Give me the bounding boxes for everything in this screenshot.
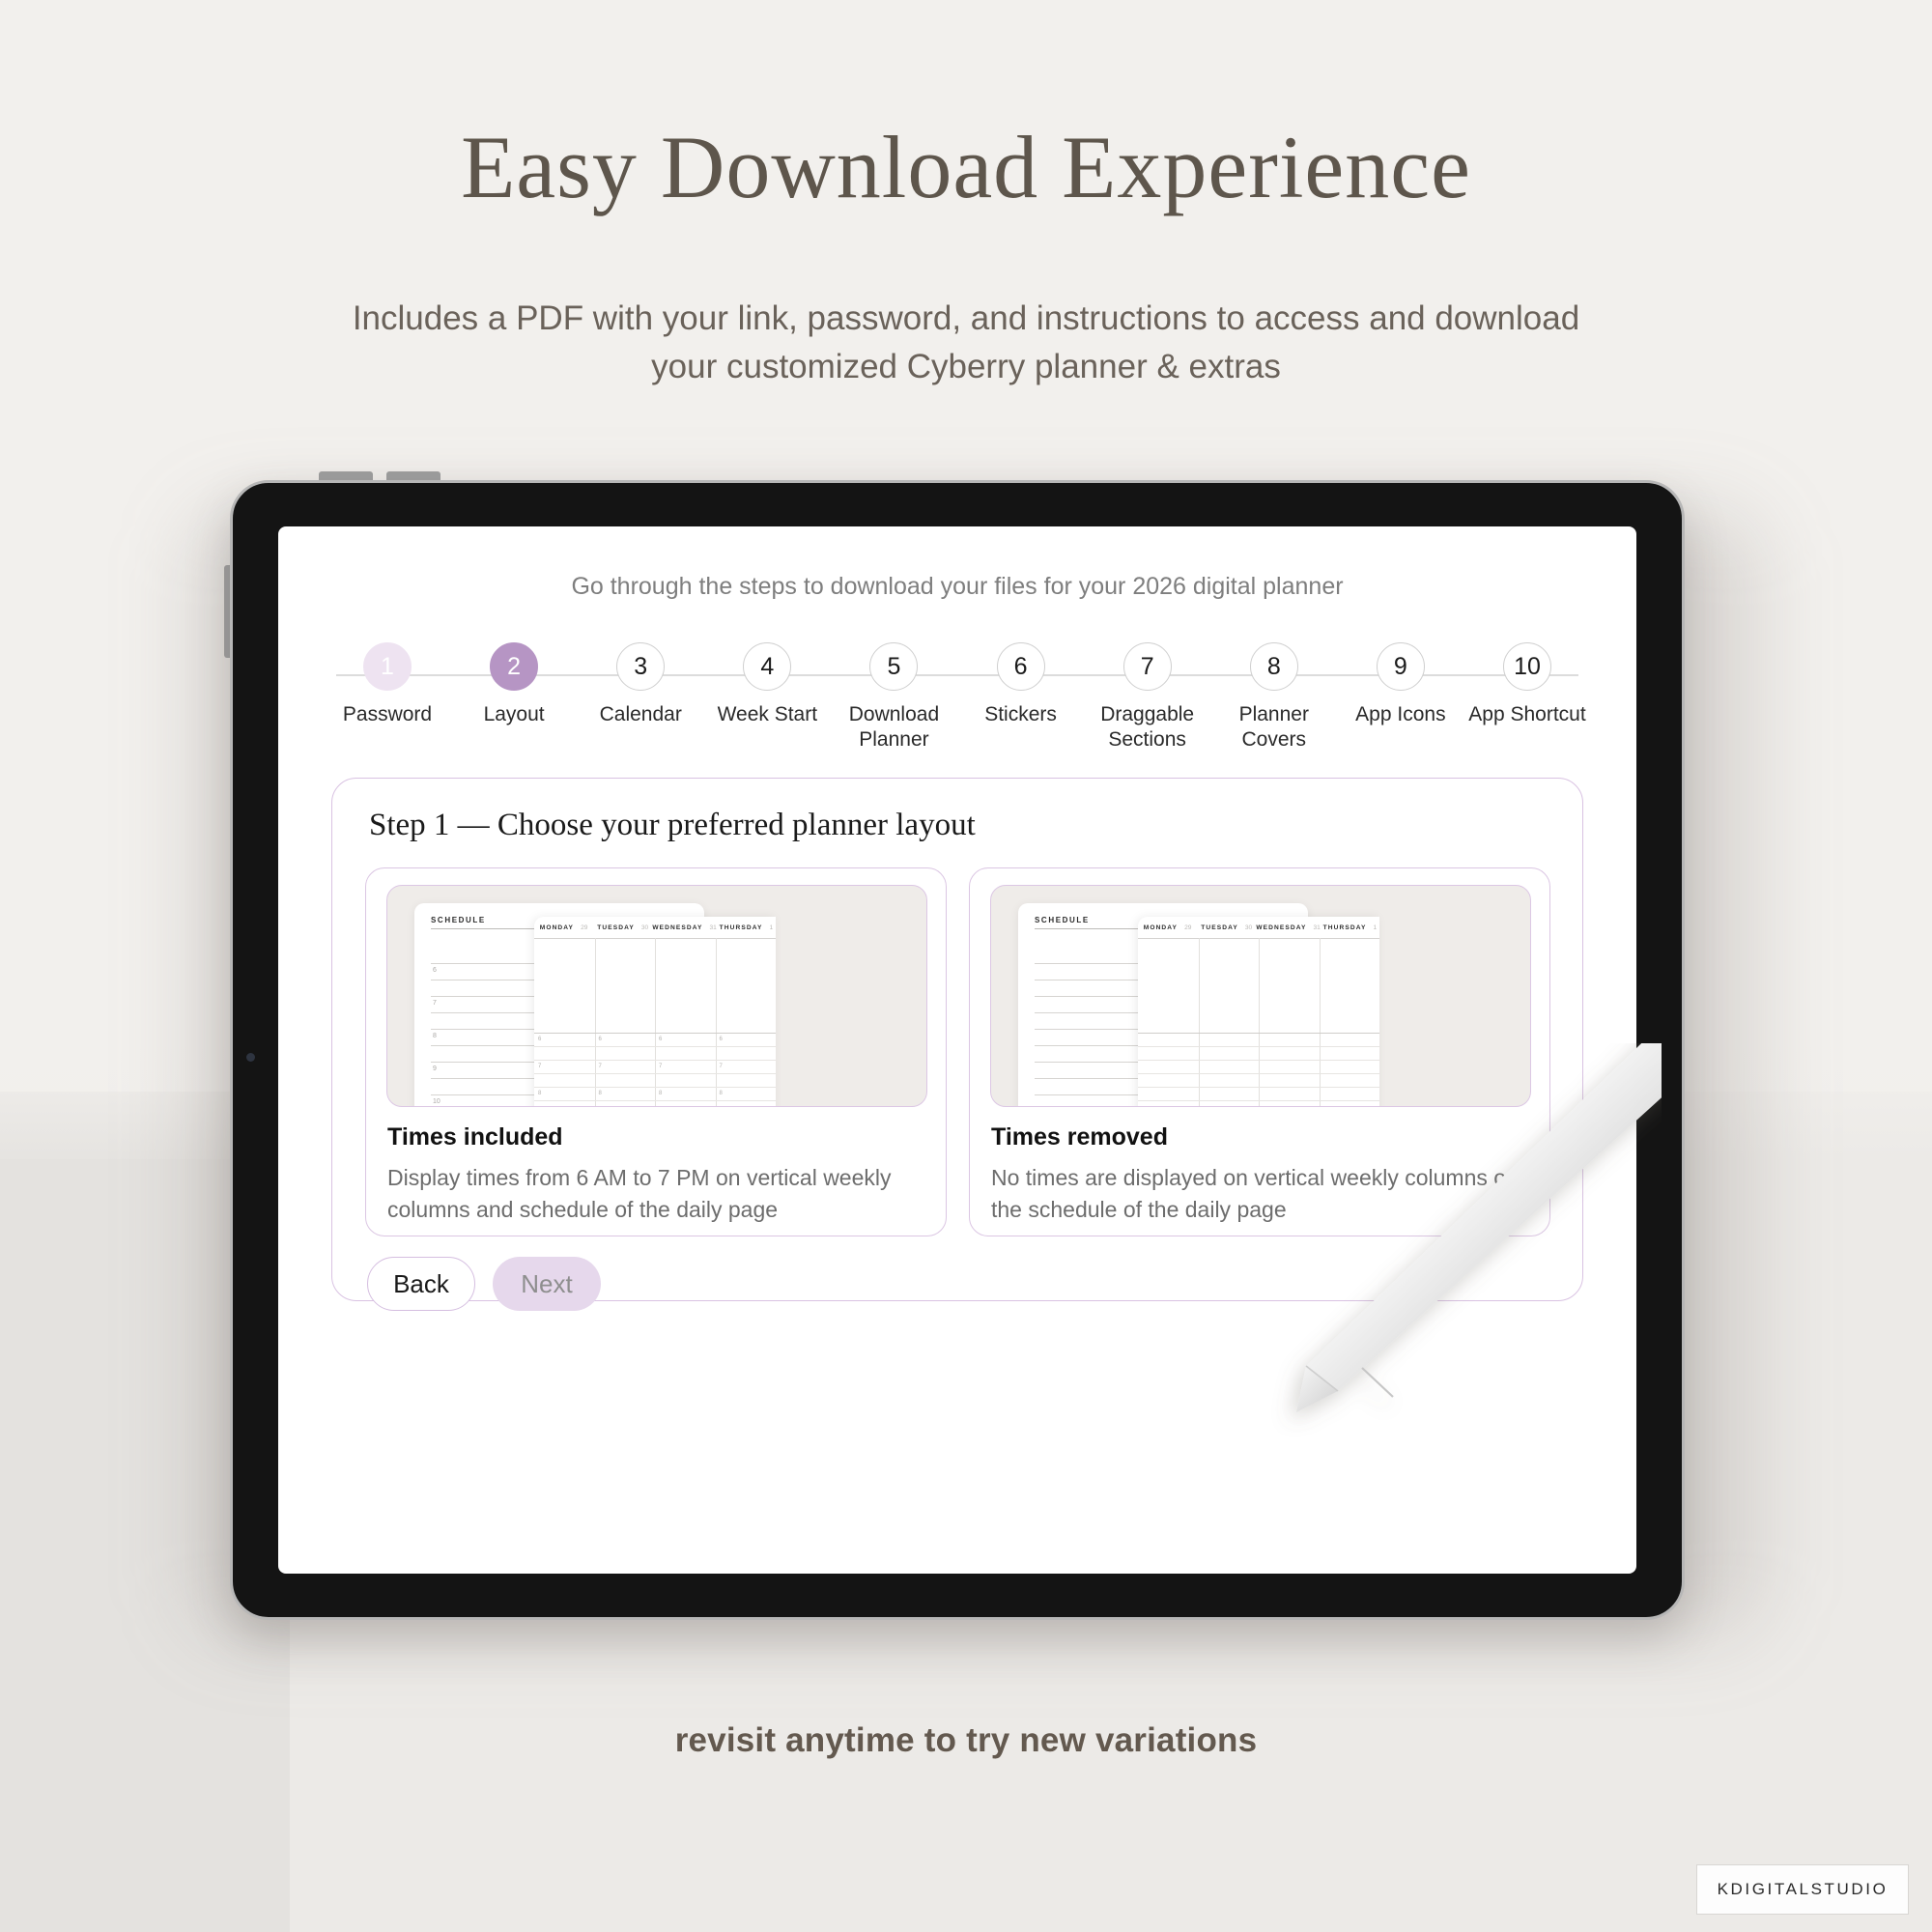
- stepper-label: Download Planner: [849, 702, 939, 753]
- brand-badge: KDIGITALSTUDIO: [1696, 1864, 1909, 1915]
- weekly-day-date: 31: [1313, 924, 1320, 931]
- weekly-hour-line: [1138, 1100, 1379, 1101]
- weekly-hour-line: [534, 1060, 776, 1061]
- weekly-day-header: THURSDAY1: [1321, 917, 1379, 938]
- weekly-day-date: 29: [581, 924, 587, 931]
- layout-option-description: Display times from 6 AM to 7 PM on verti…: [387, 1162, 914, 1225]
- weekly-hour-label: 8: [599, 1091, 602, 1096]
- stepper-label: Planner Covers: [1213, 702, 1335, 753]
- page-title: Easy Download Experience: [0, 121, 1932, 214]
- weekly-hour-label: 7: [599, 1064, 602, 1069]
- weekly-hour-line: [1138, 1073, 1379, 1074]
- weekly-hour-line: [534, 1100, 776, 1101]
- weekly-page-preview: MONDAY29TUESDAY30WEDNESDAY31THURSDAY1: [1138, 917, 1379, 1107]
- weekly-column-divider: [1320, 938, 1321, 1107]
- weekly-page-preview: MONDAY29TUESDAY30WEDNESDAY31THURSDAY1666…: [534, 917, 776, 1107]
- footer-caption: revisit anytime to try new variations: [0, 1721, 1932, 1760]
- layout-options: SCHEDULE67891011MONDAY29TUESDAY30WEDNESD…: [365, 867, 1551, 1236]
- weekly-hour-label: 6: [659, 1037, 662, 1042]
- page-subtitle: Includes a PDF with your link, password,…: [319, 295, 1613, 390]
- stepper-label: Stickers: [984, 702, 1057, 727]
- layout-option-card[interactable]: SCHEDULEMONDAY29TUESDAY30WEDNESDAY31THUR…: [969, 867, 1550, 1236]
- stepper-item-draggable-sections[interactable]: 7Draggable Sections: [1087, 642, 1208, 753]
- stepper-item-app-icons[interactable]: 9App Icons: [1340, 642, 1462, 753]
- panel-nav: Back Next: [367, 1257, 601, 1311]
- planner-preview-thumbnail: SCHEDULE67891011MONDAY29TUESDAY30WEDNESD…: [386, 885, 927, 1107]
- weekly-header-row: MONDAY29TUESDAY30WEDNESDAY31THURSDAY1: [534, 917, 776, 938]
- weekly-day-date: 30: [641, 924, 648, 931]
- stepper-label: Calendar: [600, 702, 682, 727]
- stepper-circle: 7: [1123, 642, 1172, 691]
- stepper-circle: 6: [997, 642, 1045, 691]
- stepper-item-stickers[interactable]: 6Stickers: [960, 642, 1082, 753]
- weekly-day-header: TUESDAY30: [1197, 917, 1256, 938]
- stepper-circle: 1: [363, 642, 412, 691]
- weekly-header-row: MONDAY29TUESDAY30WEDNESDAY31THURSDAY1: [1138, 917, 1379, 938]
- weekly-hour-label: 8: [659, 1091, 662, 1096]
- stepper-label: Password: [343, 702, 432, 727]
- weekly-hour-label: 6: [720, 1037, 723, 1042]
- stepper-item-app-shortcut[interactable]: 10App Shortcut: [1466, 642, 1588, 753]
- stepper-label: Week Start: [718, 702, 817, 727]
- planner-preview-thumbnail: SCHEDULEMONDAY29TUESDAY30WEDNESDAY31THUR…: [990, 885, 1531, 1107]
- stepper-circle: 10: [1503, 642, 1551, 691]
- weekly-hour-label: 8: [538, 1091, 541, 1096]
- weekly-hour-label: 7: [659, 1064, 662, 1069]
- stepper-items: 1Password2Layout3Calendar4Week Start5Dow…: [327, 642, 1588, 753]
- weekly-day-name: MONDAY: [540, 924, 574, 931]
- camera-icon: [246, 1053, 255, 1062]
- weekly-day-name: WEDNESDAY: [1256, 924, 1306, 931]
- weekly-section-divider: [534, 1033, 776, 1034]
- weekly-hour-line: [534, 1087, 776, 1088]
- stepper-label: Layout: [484, 702, 545, 727]
- schedule-hour-label: 9: [433, 1065, 437, 1072]
- weekly-hour-label: 6: [599, 1037, 602, 1042]
- stepper-circle: 8: [1250, 642, 1298, 691]
- layout-option-title: Times removed: [991, 1123, 1168, 1151]
- layout-option-card[interactable]: SCHEDULE67891011MONDAY29TUESDAY30WEDNESD…: [365, 867, 947, 1236]
- weekly-day-date: 31: [709, 924, 716, 931]
- schedule-hour-label: 6: [433, 967, 437, 974]
- weekly-column-divider: [655, 938, 656, 1107]
- weekly-day-header: MONDAY29: [1138, 917, 1197, 938]
- weekly-day-date: 1: [769, 924, 773, 931]
- schedule-heading: SCHEDULE: [1035, 916, 1090, 924]
- weekly-hour-line: [1138, 1087, 1379, 1088]
- weekly-hour-line: [1138, 1046, 1379, 1047]
- stepper-item-download-planner[interactable]: 5Download Planner: [833, 642, 954, 753]
- weekly-section-divider: [1138, 1033, 1379, 1034]
- schedule-hour-label: 10: [433, 1098, 440, 1105]
- step-panel: Step 1 — Choose your preferred planner l…: [331, 778, 1583, 1301]
- stepper-label: App Shortcut: [1468, 702, 1585, 727]
- stepper-item-password[interactable]: 1Password: [327, 642, 448, 753]
- stepper-circle: 5: [869, 642, 918, 691]
- weekly-day-header: WEDNESDAY31: [652, 917, 717, 938]
- step-panel-title: Step 1 — Choose your preferred planner l…: [369, 808, 976, 843]
- weekly-day-date: 30: [1245, 924, 1252, 931]
- stepper-item-layout[interactable]: 2Layout: [453, 642, 575, 753]
- weekly-day-header: MONDAY29: [534, 917, 593, 938]
- stepper-circle: 2: [490, 642, 538, 691]
- layout-option-description: No times are displayed on vertical weekl…: [991, 1162, 1518, 1225]
- weekly-day-header: TUESDAY30: [593, 917, 652, 938]
- weekly-hour-label: 8: [720, 1091, 723, 1096]
- stepper-item-week-start[interactable]: 4Week Start: [706, 642, 828, 753]
- weekly-day-name: WEDNESDAY: [652, 924, 702, 931]
- weekly-hour-line: [1138, 1060, 1379, 1061]
- weekly-day-name: TUESDAY: [1201, 924, 1238, 931]
- weekly-day-header: THURSDAY1: [717, 917, 776, 938]
- weekly-day-name: THURSDAY: [1323, 924, 1367, 931]
- next-button[interactable]: Next: [493, 1257, 601, 1311]
- weekly-hour-line: [534, 1073, 776, 1074]
- schedule-hour-label: 8: [433, 1033, 437, 1039]
- stepper-circle: 3: [616, 642, 665, 691]
- stepper-circle: 4: [743, 642, 791, 691]
- layout-option-title: Times included: [387, 1123, 563, 1151]
- weekly-hour-label: 6: [538, 1037, 541, 1042]
- weekly-day-name: THURSDAY: [720, 924, 763, 931]
- back-button[interactable]: Back: [367, 1257, 475, 1311]
- weekly-day-name: MONDAY: [1144, 924, 1178, 931]
- tablet-screen: Go through the steps to download your fi…: [278, 526, 1636, 1574]
- stepper-circle: 9: [1377, 642, 1425, 691]
- weekly-hour-label: 7: [720, 1064, 723, 1069]
- weekly-column-divider: [1259, 938, 1260, 1107]
- screen-intro-text: Go through the steps to download your fi…: [278, 573, 1636, 601]
- stepper-item-planner-covers[interactable]: 8Planner Covers: [1213, 642, 1335, 753]
- weekly-column-divider: [595, 938, 596, 1107]
- stepper: 1Password2Layout3Calendar4Week Start5Dow…: [327, 642, 1588, 758]
- stepper-label: App Icons: [1355, 702, 1445, 727]
- weekly-day-header: WEDNESDAY31: [1256, 917, 1321, 938]
- weekly-column-divider: [716, 938, 717, 1107]
- schedule-heading: SCHEDULE: [431, 916, 486, 924]
- weekly-column-divider: [1199, 938, 1200, 1107]
- stepper-label: Draggable Sections: [1100, 702, 1194, 753]
- stepper-item-calendar[interactable]: 3Calendar: [580, 642, 701, 753]
- schedule-hour-label: 7: [433, 1000, 437, 1007]
- weekly-day-date: 29: [1184, 924, 1191, 931]
- weekly-day-date: 1: [1373, 924, 1377, 931]
- weekly-day-name: TUESDAY: [597, 924, 635, 931]
- weekly-hour-line: [534, 1046, 776, 1047]
- weekly-hour-label: 7: [538, 1064, 541, 1069]
